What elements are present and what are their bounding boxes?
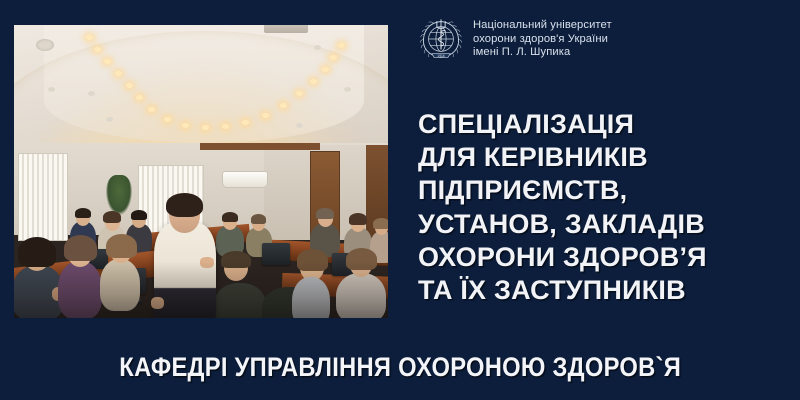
university-name-line-3: імені П. Л. Шупика xyxy=(473,46,612,60)
title-line-6: ТА ЇХ ЗАСТУПНИКІВ xyxy=(418,274,792,307)
classroom-photo xyxy=(14,25,388,318)
photo-plant xyxy=(106,175,132,215)
photo-bottom-shadow xyxy=(14,261,388,318)
title-line-4: УСТАНОВ, ЗАКЛАДІВ xyxy=(418,208,792,241)
photo-wall-trim xyxy=(200,143,320,150)
title-line-5: ОХОРОНИ ЗДОРОВ’Я xyxy=(418,241,792,274)
photo-air-conditioner xyxy=(222,171,268,188)
poster-root: 1918 Національний університет охорони зд… xyxy=(0,0,800,400)
photo-ceiling-speaker xyxy=(36,39,54,51)
university-name-line-1: Національний університет xyxy=(473,19,612,33)
photo-ceiling-vent xyxy=(264,25,308,33)
poster-title: СПЕЦІАЛІЗАЦІЯ ДЛЯ КЕРІВНИКІВ ПІДПРИЄМСТВ… xyxy=(418,108,792,307)
university-logo-block: 1918 Національний університет охорони зд… xyxy=(418,16,788,72)
title-line-1: СПЕЦІАЛІЗАЦІЯ xyxy=(418,108,792,141)
bottom-banner: КАФЕДРІ УПРАВЛІННЯ ОХОРОНОЮ ЗДОРОВ`Я xyxy=(0,334,800,400)
university-emblem-icon: 1918 xyxy=(418,16,464,62)
university-name: Національний університет охорони здоров'… xyxy=(473,16,612,60)
title-line-3: ПІДПРИЄМСТВ, xyxy=(418,174,792,207)
emblem-year: 1918 xyxy=(437,54,444,58)
title-line-2: ДЛЯ КЕРІВНИКІВ xyxy=(418,141,792,174)
university-name-line-2: охорони здоров'я України xyxy=(473,33,612,47)
bottom-banner-text: КАФЕДРІ УПРАВЛІННЯ ОХОРОНОЮ ЗДОРОВ`Я xyxy=(119,352,681,383)
photo-window-blind-left xyxy=(18,153,68,241)
